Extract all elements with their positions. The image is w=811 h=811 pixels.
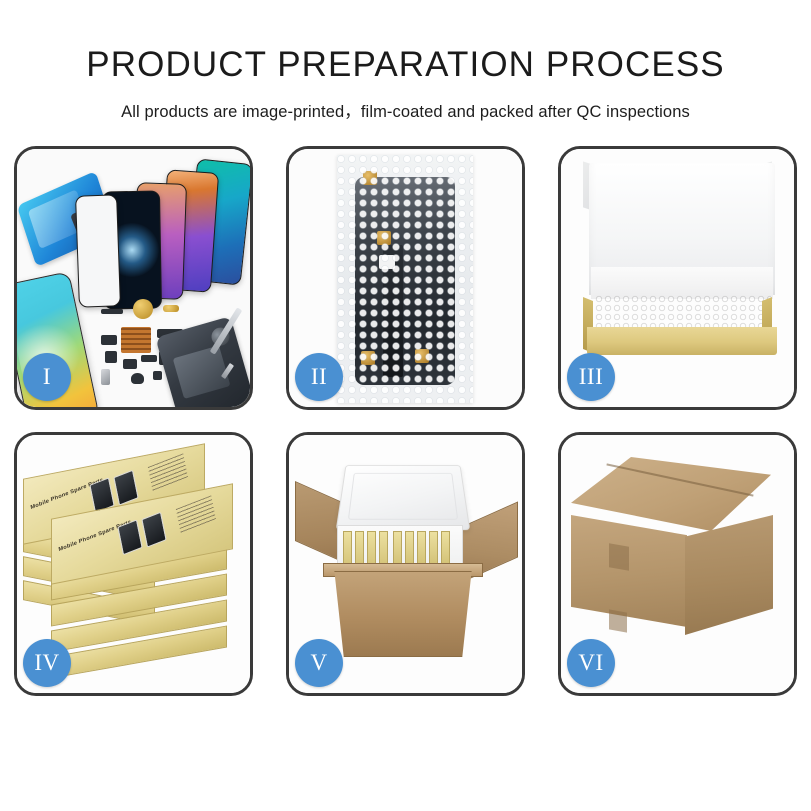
- bubble-wrapped-contents: [595, 295, 771, 329]
- process-steps-grid: I II: [14, 146, 797, 696]
- carton-body: [325, 571, 481, 657]
- phone-lineup: [95, 161, 250, 301]
- box-product-image: [117, 519, 142, 555]
- product-preparation-process-infographic: PRODUCT PREPARATION PROCESS All products…: [0, 0, 811, 811]
- process-step-card-3: III: [558, 146, 797, 410]
- phone-white-glass-icon: [75, 194, 121, 307]
- carton-tape-mark: [609, 609, 627, 632]
- foam-box-lid: [336, 465, 471, 530]
- process-step-card-5: V: [286, 432, 525, 696]
- bubble-wrap-sheet: [337, 155, 473, 403]
- step-badge-2: II: [295, 353, 343, 401]
- process-step-card-6: VI: [558, 432, 797, 696]
- box-spec-lines: [176, 495, 216, 533]
- step-badge-5: V: [295, 639, 343, 687]
- page-subtitle: All products are image-printed，film-coat…: [0, 98, 811, 122]
- gold-tray-front: [587, 327, 777, 355]
- process-step-card-2: II: [286, 146, 525, 410]
- bubble-texture: [337, 155, 473, 403]
- carton-tape-mark: [609, 543, 629, 571]
- header: PRODUCT PREPARATION PROCESS All products…: [0, 0, 811, 122]
- step-badge-4: IV: [23, 639, 71, 687]
- page-title: PRODUCT PREPARATION PROCESS: [0, 46, 811, 85]
- step-badge-6: VI: [567, 639, 615, 687]
- step-badge-3: III: [567, 353, 615, 401]
- box-product-image: [141, 512, 166, 548]
- box-spec-lines: [148, 453, 188, 491]
- step-badge-1: I: [23, 353, 71, 401]
- process-step-card-1: I: [14, 146, 253, 410]
- process-step-card-4: Mobile Phone Spare Parts Mobile Phone Sp…: [14, 432, 253, 696]
- box-product-image: [113, 470, 138, 506]
